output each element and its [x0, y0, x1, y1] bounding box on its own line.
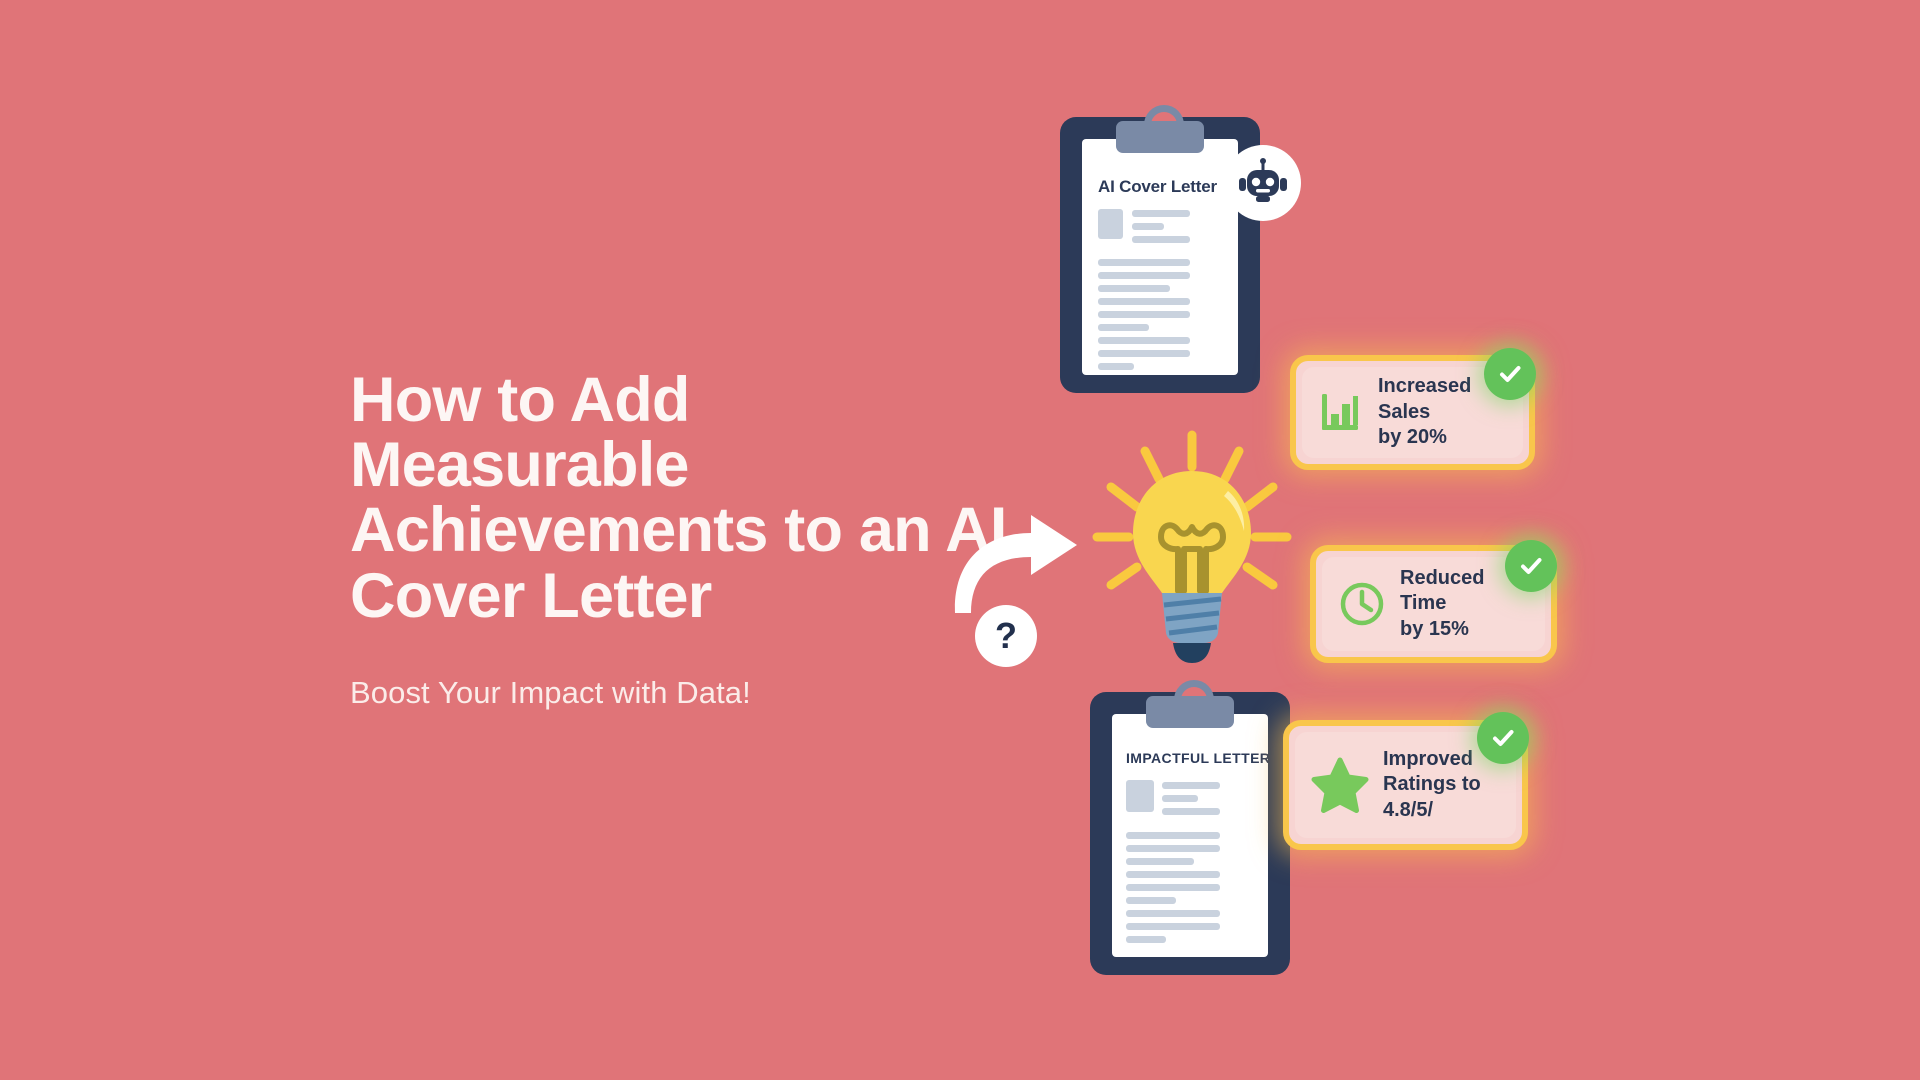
- page-subtitle: Boost Your Impact with Data!: [350, 629, 1010, 711]
- clock-icon: [1338, 580, 1386, 628]
- bar-chart-icon: [1318, 390, 1364, 436]
- clipboard-line: [1126, 897, 1176, 904]
- check-circle-icon-increased-sales: [1484, 348, 1536, 400]
- curved-arrow-icon: [945, 505, 1085, 620]
- clipboard-line: [1098, 350, 1190, 357]
- clipboard-clip-icon: [1116, 121, 1204, 153]
- clipboard-line: [1132, 223, 1164, 230]
- clipboard-line: [1098, 259, 1190, 266]
- clipboard-line: [1098, 311, 1190, 318]
- clipboard-line: [1126, 936, 1166, 943]
- robot-badge: [1225, 145, 1301, 221]
- clipboard-line: [1126, 858, 1194, 865]
- clipboard-line: [1162, 795, 1198, 802]
- check-circle-icon-reduced-time: [1505, 540, 1557, 592]
- star-icon: [1311, 756, 1369, 814]
- clipboard-line: [1098, 272, 1190, 279]
- clipboard-line: [1126, 884, 1220, 891]
- clipboard-line: [1126, 832, 1220, 839]
- clipboard-ai-cover-letter: AI Cover Letter: [1060, 117, 1260, 393]
- clipboard-line: [1098, 363, 1134, 370]
- clipboard-line: [1126, 923, 1220, 930]
- clipboard-line: [1098, 324, 1149, 331]
- clipboard-line: [1126, 845, 1220, 852]
- achievement-label: Improved Ratings to 4.8/5/: [1383, 747, 1481, 824]
- clipboard-thumbnail: [1126, 780, 1154, 812]
- clipboard-title: IMPACTFUL LETTER: [1126, 750, 1270, 766]
- clipboard-line: [1098, 298, 1190, 305]
- question-mark-icon: ?: [995, 618, 1017, 654]
- clipboard-clip-icon: [1146, 696, 1234, 728]
- hero-text-block: How to Add Measurable Achievements to an…: [350, 368, 1010, 711]
- clipboard-line: [1098, 337, 1190, 344]
- clipboard-title: AI Cover Letter: [1098, 177, 1217, 197]
- check-circle-icon-improved-ratings: [1477, 712, 1529, 764]
- clipboard-line: [1132, 210, 1190, 217]
- clipboard-line: [1126, 910, 1220, 917]
- clipboard-line: [1132, 236, 1190, 243]
- robot-icon: [1236, 156, 1290, 210]
- clipboard-line: [1162, 808, 1220, 815]
- lightbulb-icon: [1085, 425, 1300, 670]
- clipboard-line: [1098, 285, 1170, 292]
- clipboard-impactful-letter: IMPACTFUL LETTER: [1090, 692, 1290, 975]
- clipboard-line: [1126, 871, 1220, 878]
- page-title: How to Add Measurable Achievements to an…: [350, 368, 1010, 629]
- clipboard-thumbnail: [1098, 209, 1123, 239]
- slide-canvas: How to Add Measurable Achievements to an…: [0, 0, 1920, 1080]
- question-mark-badge: ?: [975, 605, 1037, 667]
- clipboard-line: [1162, 782, 1220, 789]
